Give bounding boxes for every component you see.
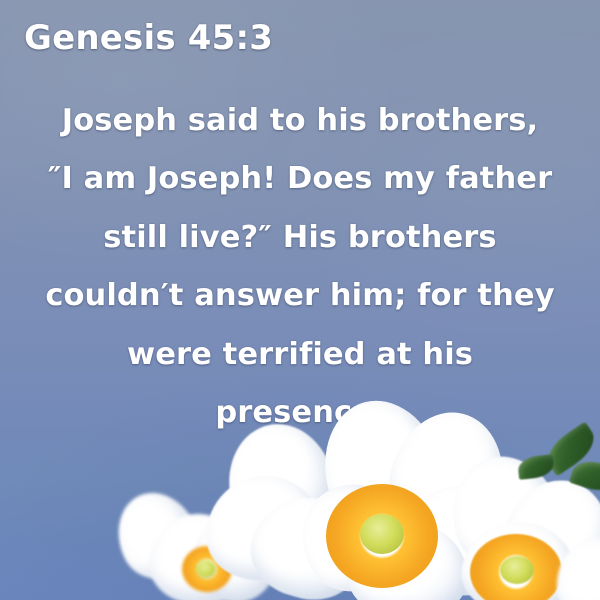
scripture-reference: Genesis 45:3 [24, 18, 273, 58]
flower-petal [457, 516, 582, 600]
verse-line: Joseph said to his brothers, [18, 92, 582, 150]
leaf [569, 456, 600, 497]
verse-line: presence. [18, 384, 582, 442]
flower-petal [549, 531, 600, 600]
verse-line: ″I am Joseph! Does my father [18, 150, 582, 208]
flower-center-stamens [326, 484, 438, 588]
flower-center-pistil [500, 556, 534, 584]
flower-petal [179, 492, 297, 600]
verse-line: still live?″ His brothers [18, 209, 582, 267]
flower-center-stamens [470, 534, 562, 600]
flower-petal [437, 442, 572, 581]
flower-petal [384, 464, 536, 600]
leaf [517, 454, 555, 480]
flower-petal [492, 467, 600, 600]
verse-line: were terrified at his [18, 326, 582, 384]
flower-petal [144, 508, 252, 600]
flower-petal [240, 485, 373, 600]
verse-text-block: Joseph said to his brothers, ″I am Josep… [0, 92, 600, 442]
flower-petal [346, 520, 469, 600]
flower-center-pistil [360, 514, 404, 554]
flower-center-stamens [182, 546, 232, 592]
verse-line: couldn′t answer him; for they [18, 267, 582, 325]
flower-center-pistil [196, 560, 216, 578]
flower-petal [203, 472, 328, 584]
flower-petal [279, 462, 428, 600]
scripture-image-canvas: Genesis 45:3 Joseph said to his brothers… [0, 0, 600, 600]
flower-petal [104, 480, 210, 590]
